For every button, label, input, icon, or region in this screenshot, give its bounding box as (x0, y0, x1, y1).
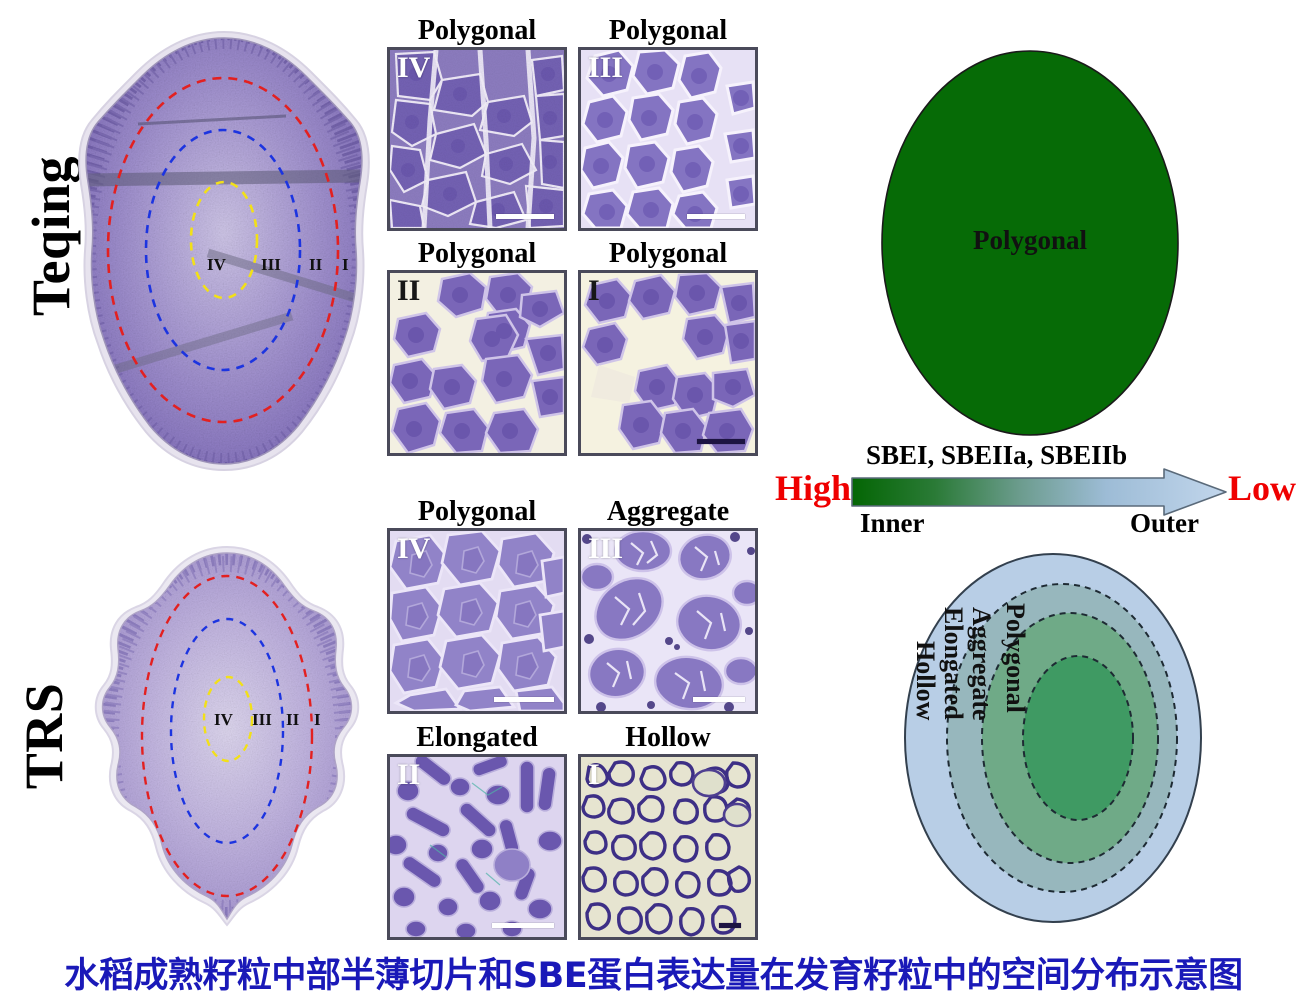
micrograph-panel-trs-iii[interactable]: III (578, 528, 758, 714)
micrograph-region-label: I (588, 759, 600, 791)
scale-bar (494, 697, 554, 702)
scale-bar (693, 697, 745, 702)
figure-caption: 水稻成熟籽粒中部半薄切片和SBE蛋白表达量在发育籽粒中的空间分布示意图 (0, 947, 1307, 998)
micrograph-title-teqing-iv: Polygonal (387, 15, 567, 47)
schematic-teqing-shape-label: Polygonal (973, 225, 1087, 256)
nested-ring-label-hollow: Hollow (910, 641, 940, 821)
micrograph-region-label: IV (397, 52, 430, 84)
micrograph-title-trs-ii: Elongated (387, 722, 567, 754)
cultivar-label-teqing: Teqing (20, 136, 82, 336)
grain-cross-section-teqing: IV III II I (78, 28, 370, 472)
nested-ring-label-aggregate: Aggregate (966, 607, 996, 807)
gradient-high-label: High (775, 467, 851, 509)
micrograph-region-label: II (397, 759, 420, 791)
nested-ring-label-elongated: Elongated (938, 607, 968, 807)
micrograph-title-trs-i: Hollow (578, 722, 758, 754)
scale-bar (687, 214, 745, 219)
micrograph-title-trs-iii: Aggregate (578, 496, 758, 528)
micrograph-region-label: I (588, 275, 600, 307)
micrograph-panel-teqing-iv[interactable]: IV (387, 47, 567, 231)
micrograph-title-teqing-ii: Polygonal (387, 238, 567, 270)
micrograph-panel-trs-iv[interactable]: IV (387, 528, 567, 714)
cultivar-label-trs: TRS (13, 656, 75, 816)
micrograph-panel-teqing-i[interactable]: I (578, 270, 758, 456)
gradient-outer-label: Outer (1130, 508, 1199, 539)
micrograph-region-label: III (588, 533, 623, 565)
micrograph-title-teqing-i: Polygonal (578, 238, 758, 270)
gradient-genes-label: SBEI, SBEIIa, SBEIIb (866, 440, 1127, 471)
micrograph-region-label: III (588, 52, 623, 84)
gradient-low-label: Low (1228, 467, 1296, 509)
micrograph-title-trs-iv: Polygonal (387, 496, 567, 528)
scale-bar (719, 923, 741, 928)
gradient-inner-label: Inner (860, 508, 925, 539)
micrograph-panel-teqing-ii[interactable]: II (387, 270, 567, 456)
micrograph-panel-teqing-iii[interactable]: III (578, 47, 758, 231)
micrograph-title-teqing-iii: Polygonal (578, 15, 758, 47)
scale-bar (697, 439, 745, 444)
grain-cross-section-trs: IV III II I (88, 545, 366, 927)
micrograph-region-label: IV (397, 533, 430, 565)
nested-ring-label-polygonal: Polygonal (1000, 603, 1030, 803)
scale-bar (496, 214, 554, 219)
micrograph-panel-trs-i[interactable]: I (578, 754, 758, 940)
micrograph-panel-trs-ii[interactable]: II (387, 754, 567, 940)
scale-bar (492, 923, 554, 928)
micrograph-region-label: II (397, 275, 420, 307)
